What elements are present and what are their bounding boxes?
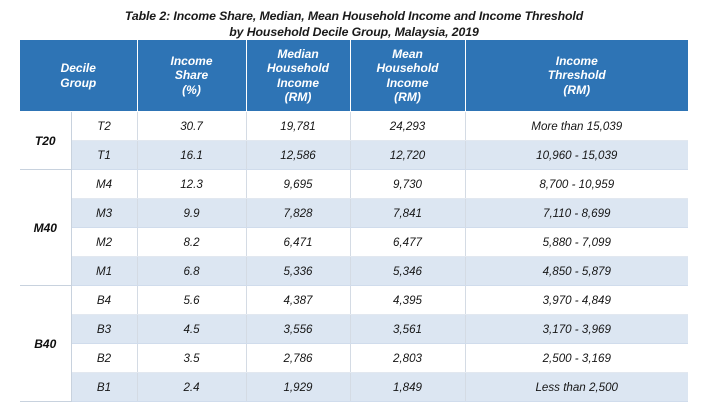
cell-mean-income: 7,841 [350, 199, 465, 228]
column-header-median-income-line-3: Income [249, 76, 348, 90]
column-header-income-threshold-line-2: Threshold [468, 68, 687, 82]
cell-median-income: 5,336 [246, 257, 350, 286]
cell-income-share: 4.5 [137, 315, 246, 344]
cell-income-share: 3.5 [137, 344, 246, 373]
cell-income-share: 9.9 [137, 199, 246, 228]
cell-income-threshold: Less than 2,500 [465, 373, 688, 402]
column-header-median-income-line-4: (RM) [249, 90, 348, 104]
cell-income-share: 2.4 [137, 373, 246, 402]
table-row: T20T230.719,78124,293More than 15,039 [20, 112, 688, 141]
group-label-cell: T20 [20, 112, 71, 170]
table-row: M39.97,8287,8417,110 - 8,699 [20, 199, 688, 228]
table-title-line-1: Table 2: Income Share, Median, Mean Hous… [20, 9, 688, 25]
cell-income-threshold: 3,170 - 3,969 [465, 315, 688, 344]
cell-median-income: 9,695 [246, 170, 350, 199]
column-header-income-share-line-1: Income [140, 54, 244, 68]
cell-income-share: 6.8 [137, 257, 246, 286]
cell-decile: T1 [71, 141, 137, 170]
cell-income-threshold: 8,700 - 10,959 [465, 170, 688, 199]
cell-income-threshold: 4,850 - 5,879 [465, 257, 688, 286]
table-body: T20T230.719,78124,293More than 15,039T11… [20, 112, 688, 402]
cell-median-income: 6,471 [246, 228, 350, 257]
cell-decile: M2 [71, 228, 137, 257]
cell-median-income: 7,828 [246, 199, 350, 228]
cell-income-share: 16.1 [137, 141, 246, 170]
cell-income-share: 30.7 [137, 112, 246, 141]
cell-median-income: 1,929 [246, 373, 350, 402]
table-row: M16.85,3365,3464,850 - 5,879 [20, 257, 688, 286]
cell-income-threshold: More than 15,039 [465, 112, 688, 141]
table-row: B34.53,5563,5613,170 - 3,969 [20, 315, 688, 344]
column-header-income-threshold: Income Threshold (RM) [465, 40, 688, 112]
cell-median-income: 2,786 [246, 344, 350, 373]
cell-median-income: 3,556 [246, 315, 350, 344]
cell-mean-income: 24,293 [350, 112, 465, 141]
income-decile-table: Decile Group Income Share (%) Median Hou… [20, 40, 688, 402]
table-row: B12.41,9291,849Less than 2,500 [20, 373, 688, 402]
cell-income-share: 12.3 [137, 170, 246, 199]
cell-decile: M1 [71, 257, 137, 286]
cell-decile: B4 [71, 286, 137, 315]
cell-mean-income: 4,395 [350, 286, 465, 315]
cell-mean-income: 5,346 [350, 257, 465, 286]
column-header-median-income-line-2: Household [249, 61, 348, 75]
cell-decile: B1 [71, 373, 137, 402]
column-header-median-income: Median Household Income (RM) [246, 40, 350, 112]
table-header-row: Decile Group Income Share (%) Median Hou… [20, 40, 688, 112]
cell-decile: B3 [71, 315, 137, 344]
column-header-decile-group-line-2: Group [22, 76, 135, 90]
column-header-mean-income-line-1: Mean [353, 47, 463, 61]
cell-decile: B2 [71, 344, 137, 373]
cell-median-income: 4,387 [246, 286, 350, 315]
group-label-cell: B40 [20, 286, 71, 402]
cell-income-threshold: 5,880 - 7,099 [465, 228, 688, 257]
table-header: Decile Group Income Share (%) Median Hou… [20, 40, 688, 112]
cell-income-threshold: 2,500 - 3,169 [465, 344, 688, 373]
column-header-decile-group: Decile Group [20, 40, 137, 112]
group-label-cell: M40 [20, 170, 71, 286]
cell-decile: M3 [71, 199, 137, 228]
cell-mean-income: 2,803 [350, 344, 465, 373]
cell-income-threshold: 7,110 - 8,699 [465, 199, 688, 228]
column-header-income-share-line-3: (%) [140, 83, 244, 97]
table-row: T116.112,58612,72010,960 - 15,039 [20, 141, 688, 170]
cell-income-threshold: 10,960 - 15,039 [465, 141, 688, 170]
column-header-decile-group-line-1: Decile [22, 61, 135, 75]
table-title: Table 2: Income Share, Median, Mean Hous… [20, 9, 688, 40]
column-header-income-threshold-line-1: Income [468, 54, 687, 68]
table-row: M28.26,4716,4775,880 - 7,099 [20, 228, 688, 257]
cell-mean-income: 3,561 [350, 315, 465, 344]
cell-decile: M4 [71, 170, 137, 199]
page-root: Table 2: Income Share, Median, Mean Hous… [0, 0, 718, 412]
column-header-median-income-line-1: Median [249, 47, 348, 61]
table-row: B40B45.64,3874,3953,970 - 4,849 [20, 286, 688, 315]
cell-median-income: 12,586 [246, 141, 350, 170]
cell-mean-income: 6,477 [350, 228, 465, 257]
column-header-income-share: Income Share (%) [137, 40, 246, 112]
column-header-income-share-line-2: Share [140, 68, 244, 82]
cell-income-threshold: 3,970 - 4,849 [465, 286, 688, 315]
table-title-line-2: by Household Decile Group, Malaysia, 201… [20, 25, 688, 41]
cell-mean-income: 1,849 [350, 373, 465, 402]
cell-decile: T2 [71, 112, 137, 141]
column-header-mean-income-line-4: (RM) [353, 90, 463, 104]
table-row: M40M412.39,6959,7308,700 - 10,959 [20, 170, 688, 199]
income-table-container: Decile Group Income Share (%) Median Hou… [20, 40, 688, 402]
cell-income-share: 8.2 [137, 228, 246, 257]
column-header-income-threshold-line-3: (RM) [468, 83, 687, 97]
cell-mean-income: 12,720 [350, 141, 465, 170]
column-header-mean-income-line-3: Income [353, 76, 463, 90]
table-row: B23.52,7862,8032,500 - 3,169 [20, 344, 688, 373]
cell-median-income: 19,781 [246, 112, 350, 141]
cell-mean-income: 9,730 [350, 170, 465, 199]
cell-income-share: 5.6 [137, 286, 246, 315]
column-header-mean-income-line-2: Household [353, 61, 463, 75]
column-header-mean-income: Mean Household Income (RM) [350, 40, 465, 112]
